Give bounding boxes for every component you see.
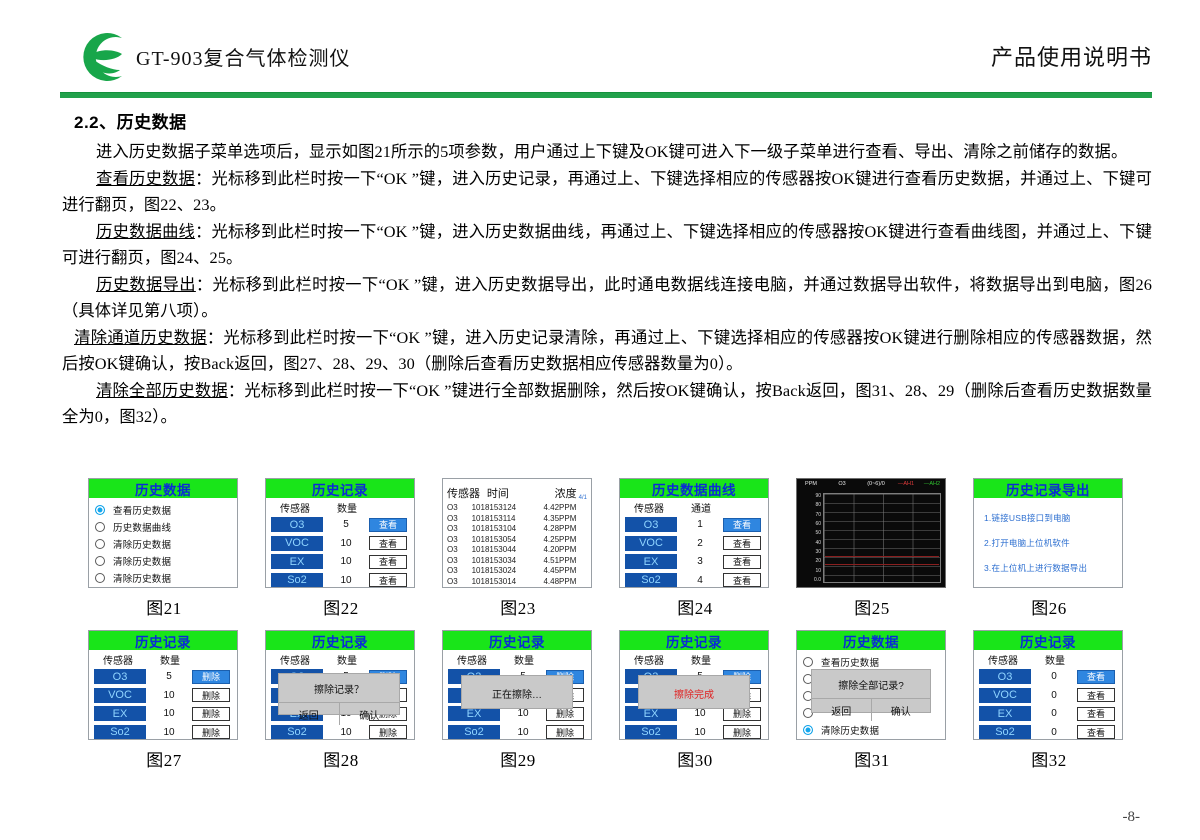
table-row[interactable]: So2 4 查看 xyxy=(620,572,768,589)
sensor-chip: So2 xyxy=(625,725,677,740)
figure-30: 历史记录 传感器 数量 O3 5 删除 VOC 10 删除 EX 10 删除 xyxy=(619,630,771,771)
view-button[interactable]: 查看 xyxy=(1077,707,1115,721)
y-tick: 90 xyxy=(799,493,821,499)
column-header-quantity: 数量 xyxy=(324,652,370,667)
screen-title: 历史记录 xyxy=(89,631,237,650)
radio-button-icon[interactable] xyxy=(95,505,105,515)
paragraph-history-export: 历史数据导出：光标移到此栏时按一下“OK ”键，进入历史数据导出，此时通电数据线… xyxy=(62,272,1152,325)
data-row: O3 1018153034 4.51PPM xyxy=(443,556,591,567)
cell-sensor: O3 xyxy=(447,566,472,577)
device-screen-history-record-list[interactable]: 历史记录 传感器 数量 O3 5 查看 VOC 10 查看 EX 10 查看 xyxy=(265,478,415,588)
figure-25: PPM O3 (0~6)/0 —AH1 —AH2 90 80 70 60 50 … xyxy=(796,478,948,619)
sensor-chip: So2 xyxy=(448,725,500,740)
cell-time: 1018153034 xyxy=(472,556,544,567)
sensor-quantity: 10 xyxy=(146,727,192,738)
device-screen-trend-chart[interactable]: PPM O3 (0~6)/0 —AH1 —AH2 90 80 70 60 50 … xyxy=(796,478,946,588)
sensor-quantity: 0 xyxy=(1031,690,1077,701)
view-button[interactable]: 查看 xyxy=(369,536,407,550)
section-body: 2.2、历史数据 进入历史数据子菜单选项后，显示如图21所示的5项参数，用户通过… xyxy=(62,108,1152,431)
paragraph-history-curve-text: ：光标移到此栏时按一下“OK ”键，进入历史数据曲线，再通过上、下键选择相应的传… xyxy=(62,222,1152,268)
menu-option-label: 查看历史数据 xyxy=(113,503,171,517)
cell-concentration: 4.51PPM xyxy=(543,556,587,567)
paragraph-clear-channel-text: ：光标移到此栏时按一下“OK ”键，进入历史记录清除，再通过上、下键选择相应的传… xyxy=(62,328,1152,374)
menu-option-row[interactable]: 清除历史数据 xyxy=(803,722,945,738)
column-header-time: 时间 xyxy=(487,485,540,501)
green-leaf-c-logo-icon xyxy=(72,30,128,84)
dialog-message: 擦除全部记录? xyxy=(812,670,930,692)
screen-title: 历史数据 xyxy=(89,479,237,498)
sensor-chip: O3 xyxy=(94,669,146,684)
view-button[interactable]: 查看 xyxy=(723,518,761,532)
device-screen-erase-confirm[interactable]: 历史记录 传感器 数量 O3 5 删除 VOC 10 删除 EX 10 删除 xyxy=(265,630,415,740)
y-tick: 10 xyxy=(799,568,821,574)
sensor-quantity: 10 xyxy=(677,727,723,738)
cell-time: 1018153024 xyxy=(472,566,544,577)
device-screen-record-delete-list[interactable]: 历史记录 传感器 数量 O3 5 删除 VOC 10 删除 EX 10 删除 xyxy=(88,630,238,740)
figure-row-first: 历史数据 查看历史数据 历史数据曲线 清除历史数据 清除历史数据 xyxy=(88,478,1150,619)
export-step: 2.打开电脑上位机软件 xyxy=(984,537,1122,549)
menu-option-label: 清除历史数据 xyxy=(113,571,171,585)
sensor-quantity: 10 xyxy=(323,727,369,738)
view-button[interactable]: 查看 xyxy=(1077,670,1115,684)
delete-button[interactable]: 删除 xyxy=(192,725,230,739)
data-row: O3 1018153124 4.42PPM xyxy=(443,503,591,514)
view-button[interactable]: 查看 xyxy=(369,518,407,532)
table-row[interactable]: So2 10 删除 xyxy=(89,724,237,741)
menu-option-row[interactable]: 清除历史数据 xyxy=(95,536,237,552)
screen-title: 历史数据曲线 xyxy=(620,479,768,498)
table-row[interactable]: O3 5 删除 xyxy=(89,668,237,685)
back-button[interactable]: 返回 xyxy=(812,699,871,721)
cell-concentration: 4.45PPM xyxy=(543,566,587,577)
table-row[interactable]: O3 1 查看 xyxy=(620,516,768,533)
brand-title: GT-903复合气体检测仪 xyxy=(136,42,350,71)
dialog-buttons: 返回 确认 xyxy=(279,702,399,725)
table-header: 传感器 通道 xyxy=(620,498,768,516)
device-screen-erase-complete[interactable]: 历史记录 传感器 数量 O3 5 删除 VOC 10 删除 EX 10 删除 xyxy=(619,630,769,740)
sensor-quantity: 10 xyxy=(323,538,369,549)
page-indicator: 4/1 xyxy=(579,495,587,501)
figure-caption: 图24 xyxy=(619,594,771,619)
cell-sensor: O3 xyxy=(447,556,472,567)
delete-button[interactable]: 删除 xyxy=(192,670,230,684)
cell-time: 1018153054 xyxy=(472,535,544,546)
page-header: GT-903复合气体检测仪 产品使用说明书 xyxy=(60,24,1152,90)
radio-button-icon[interactable] xyxy=(95,573,105,583)
confirm-dialog[interactable]: 擦除全部记录? 返回 确认 xyxy=(811,669,931,713)
sensor-chip: VOC xyxy=(625,536,677,551)
column-header-quantity: 数量 xyxy=(678,652,724,667)
figure-caption: 图31 xyxy=(796,746,948,771)
column-header-quantity: 数量 xyxy=(501,652,547,667)
column-header-sensor: 传感器 xyxy=(447,485,487,501)
figure-29: 历史记录 传感器 数量 O3 5 删除 VOC 10 删除 EX 10 删除 xyxy=(442,630,594,771)
channel-number: 1 xyxy=(677,519,723,530)
y-tick: 60 xyxy=(799,521,821,527)
data-row: O3 1018153054 4.25PPM xyxy=(443,535,591,546)
view-button[interactable]: 查看 xyxy=(1077,688,1115,702)
sensor-quantity: 0 xyxy=(1031,671,1077,682)
cell-concentration: 4.42PPM xyxy=(543,503,587,514)
menu-option-row[interactable]: 清除历史数据 xyxy=(95,553,237,569)
column-header-sensor: 传感器 xyxy=(620,500,678,515)
figure-caption: 图32 xyxy=(973,746,1125,771)
figure-caption: 图23 xyxy=(442,594,594,619)
cell-time: 1018153014 xyxy=(472,577,544,588)
sensor-chip: EX xyxy=(94,706,146,721)
data-row: O3 1018153104 4.28PPM xyxy=(443,524,591,535)
device-screen-erasing-progress[interactable]: 历史记录 传感器 数量 O3 5 删除 VOC 10 删除 EX 10 删除 xyxy=(442,630,592,740)
column-header-quantity: 数量 xyxy=(1032,652,1078,667)
table-row[interactable]: VOC 10 查看 xyxy=(266,535,414,552)
menu-option-row[interactable]: 查看历史数据 xyxy=(803,654,945,670)
sensor-chip: EX xyxy=(625,554,677,569)
chart-header: PPM O3 (0~6)/0 —AH1 —AH2 xyxy=(797,481,945,487)
y-tick: 70 xyxy=(799,512,821,518)
data-row: O3 1018153114 4.35PPM xyxy=(443,514,591,525)
data-row: O3 1018153044 4.20PPM xyxy=(443,545,591,556)
figure-caption: 图28 xyxy=(265,746,417,771)
delete-button[interactable]: 删除 xyxy=(546,725,584,739)
column-header-sensor: 传感器 xyxy=(266,652,324,667)
sensor-quantity: 5 xyxy=(146,671,192,682)
sensor-quantity: 10 xyxy=(146,690,192,701)
paragraph-clear-channel: 清除通道历史数据：光标移到此栏时按一下“OK ”键，进入历史记录清除，再通过上、… xyxy=(62,325,1152,378)
channel-number: 4 xyxy=(677,575,723,586)
chart-gas-label: O3 xyxy=(825,481,859,487)
sensor-chip: O3 xyxy=(625,517,677,532)
cell-time: 1018153124 xyxy=(472,503,544,514)
table-header: 传感器 数量 xyxy=(974,650,1122,668)
sensor-chip: EX xyxy=(271,554,323,569)
cell-time: 1018153114 xyxy=(472,514,544,525)
table-row[interactable]: O3 5 查看 xyxy=(266,516,414,533)
term-history-curve: 历史数据曲线 xyxy=(96,222,195,241)
cell-sensor: O3 xyxy=(447,545,472,556)
table-header: 传感器 数量 xyxy=(266,498,414,516)
table-row[interactable]: EX 10 删除 xyxy=(89,705,237,722)
table-row[interactable]: EX 3 查看 xyxy=(620,553,768,570)
sensor-quantity: 5 xyxy=(323,519,369,530)
confirm-button[interactable]: 确认 xyxy=(871,699,931,721)
header-divider xyxy=(60,92,1152,98)
menu-option-row[interactable]: 查看历史数据 xyxy=(95,502,237,518)
device-screen-erase-all-confirm[interactable]: 历史数据 查看历史数据 xyxy=(796,630,946,740)
cell-sensor: O3 xyxy=(447,577,472,588)
figure-caption: 图30 xyxy=(619,746,771,771)
sensor-quantity: 10 xyxy=(500,727,546,738)
paragraph-view-history: 查看历史数据：光标移到此栏时按一下“OK ”键，进入历史记录，再通过上、下键选择… xyxy=(62,166,1152,219)
cell-time: 1018153044 xyxy=(472,545,544,556)
view-button[interactable]: 查看 xyxy=(369,555,407,569)
sensor-quantity: 0 xyxy=(1031,727,1077,738)
sensor-quantity: 0 xyxy=(1031,708,1077,719)
sensor-quantity: 10 xyxy=(323,575,369,586)
cell-sensor: O3 xyxy=(447,535,472,546)
menu-option-row[interactable]: 历史数据曲线 xyxy=(95,519,237,535)
figure-26: 历史记录导出 1.链接USB接口到电脑 2.打开电脑上位机软件 3.在上位机上进… xyxy=(973,478,1125,619)
cell-concentration: 4.35PPM xyxy=(543,514,587,525)
y-tick: 80 xyxy=(799,502,821,508)
table-header: 传感器 数量 xyxy=(266,650,414,668)
paragraph-view-history-text: ：光标移到此栏时按一下“OK ”键，进入历史记录，再通过上、下键选择相应的传感器… xyxy=(62,169,1152,215)
device-screen-history-data-menu[interactable]: 历史数据 查看历史数据 历史数据曲线 清除历史数据 清除历史数据 xyxy=(88,478,238,588)
confirm-dialog[interactable]: 擦除记录？ 返回 确认 xyxy=(278,673,400,715)
sensor-chip: So2 xyxy=(271,725,323,740)
progress-dialog: 正在擦除… xyxy=(461,675,573,709)
table-header: 传感器 数量 xyxy=(89,650,237,668)
menu-option-label: 查看历史数据 xyxy=(821,655,879,669)
cell-sensor: O3 xyxy=(447,503,472,514)
table-row[interactable]: VOC 0 查看 xyxy=(974,687,1122,704)
cell-concentration: 4.48PPM xyxy=(543,577,587,588)
screen-title: 历史记录导出 xyxy=(974,479,1122,498)
chart-y-axis: 90 80 70 60 50 40 30 20 10 0.0 xyxy=(799,493,821,583)
sensor-chip: So2 xyxy=(271,573,323,588)
figure-caption: 图25 xyxy=(796,594,948,619)
figure-28: 历史记录 传感器 数量 O3 5 删除 VOC 10 删除 EX 10 删除 xyxy=(265,630,417,771)
figure-caption: 图27 xyxy=(88,746,240,771)
menu-option-label: 清除历史数据 xyxy=(113,537,171,551)
table-row[interactable]: EX 10 查看 xyxy=(266,553,414,570)
cell-concentration: 4.20PPM xyxy=(543,545,587,556)
completion-dialog: 擦除完成 xyxy=(638,675,750,709)
y-tick: 50 xyxy=(799,530,821,536)
paragraph-clear-all: 清除全部历史数据：光标移到此栏时按一下“OK ”键进行全部数据删除，然后按OK键… xyxy=(62,378,1152,431)
sensor-chip: So2 xyxy=(94,725,146,740)
paragraph-history-curve: 历史数据曲线：光标移到此栏时按一下“OK ”键，进入历史数据曲线，再通过上、下键… xyxy=(62,219,1152,272)
figure-32: 历史记录 传感器 数量 O3 0 查看 VOC 0 查看 EX 0 查看 xyxy=(973,630,1125,771)
table-row[interactable]: EX 0 查看 xyxy=(974,705,1122,722)
view-button[interactable]: 查看 xyxy=(1077,725,1115,739)
column-header-quantity: 数量 xyxy=(324,500,370,515)
sensor-chip: VOC xyxy=(271,536,323,551)
document-title: 产品使用说明书 xyxy=(991,40,1152,72)
view-button[interactable]: 查看 xyxy=(723,555,761,569)
term-clear-channel: 清除通道历史数据 xyxy=(74,328,207,347)
alarm-threshold-line-ah2 xyxy=(825,564,939,565)
screen-title: 历史数据 xyxy=(797,631,945,650)
section-heading: 2.2、历史数据 xyxy=(74,108,1152,133)
figure-23: 传感器 时间 浓度 4/1 O3 1018153124 4.42PPM O3 1… xyxy=(442,478,594,619)
view-button[interactable]: 查看 xyxy=(369,573,407,587)
device-screen-history-record-empty[interactable]: 历史记录 传感器 数量 O3 0 查看 VOC 0 查看 EX 0 查看 xyxy=(973,630,1123,740)
sensor-quantity: 10 xyxy=(500,708,546,719)
menu-option-label: 清除历史数据 xyxy=(821,723,879,737)
confirm-button[interactable]: 确认 xyxy=(339,703,400,725)
sensor-chip: O3 xyxy=(271,517,323,532)
table-header: 传感器 数量 xyxy=(443,650,591,668)
legend-ah1: —AH1 xyxy=(893,481,919,487)
column-header-sensor: 传感器 xyxy=(266,500,324,515)
chart-unit-label: PPM xyxy=(797,481,825,487)
table-row[interactable]: VOC 2 查看 xyxy=(620,535,768,552)
menu-option-row[interactable]: 清除历史数据 xyxy=(95,570,237,586)
channel-number: 3 xyxy=(677,556,723,567)
export-steps: 1.链接USB接口到电脑 2.打开电脑上位机软件 3.在上位机上进行数据导出 xyxy=(974,498,1122,574)
delete-button[interactable]: 删除 xyxy=(723,725,761,739)
figure-caption: 图21 xyxy=(88,594,240,619)
column-header-sensor: 传感器 xyxy=(89,652,147,667)
sensor-chip: O3 xyxy=(979,669,1031,684)
figure-caption: 图26 xyxy=(973,594,1125,619)
radio-button-icon[interactable] xyxy=(95,556,105,566)
sensor-quantity: 10 xyxy=(677,708,723,719)
delete-button[interactable]: 删除 xyxy=(192,688,230,702)
dialog-message: 正在擦除… xyxy=(462,676,572,701)
column-header-sensor: 传感器 xyxy=(620,652,678,667)
table-row[interactable]: So2 10 删除 xyxy=(620,724,768,741)
view-button[interactable]: 查看 xyxy=(723,536,761,550)
screen-title: 历史记录 xyxy=(266,479,414,498)
dialog-buttons: 返回 确认 xyxy=(812,698,930,721)
channel-number: 2 xyxy=(677,538,723,549)
dialog-message: 擦除记录？ xyxy=(279,674,399,696)
table-row[interactable]: VOC 10 删除 xyxy=(89,687,237,704)
figure-caption: 图22 xyxy=(265,594,417,619)
cell-concentration: 4.28PPM xyxy=(543,524,587,535)
device-screen-record-detail[interactable]: 传感器 时间 浓度 4/1 O3 1018153124 4.42PPM O3 1… xyxy=(442,478,592,588)
alarm-threshold-line-ah1 xyxy=(825,556,939,557)
export-step: 1.链接USB接口到电脑 xyxy=(984,512,1122,524)
legend-ah2: —AH2 xyxy=(919,481,945,487)
figure-22: 历史记录 传感器 数量 O3 5 查看 VOC 10 查看 EX 10 查看 xyxy=(265,478,417,619)
screen-title: 历史记录 xyxy=(266,631,414,650)
screen-title: 历史记录 xyxy=(620,631,768,650)
delete-button[interactable]: 删除 xyxy=(369,725,407,739)
data-row: O3 1018153014 4.48PPM xyxy=(443,577,591,588)
term-history-export: 历史数据导出 xyxy=(96,275,196,294)
figure-caption: 图29 xyxy=(442,746,594,771)
brand-logo xyxy=(72,30,130,84)
table-row[interactable]: So2 0 查看 xyxy=(974,724,1122,741)
export-step: 3.在上位机上进行数据导出 xyxy=(984,562,1122,574)
figure-row-second: 历史记录 传感器 数量 O3 5 删除 VOC 10 删除 EX 10 删除 xyxy=(88,630,1150,771)
figure-31: 历史数据 查看历史数据 xyxy=(796,630,948,771)
cell-concentration: 4.25PPM xyxy=(543,535,587,546)
paragraph-intro: 进入历史数据子菜单选项后，显示如图21所示的5项参数，用户通过上下键及OK键可进… xyxy=(62,139,1152,166)
figure-21: 历史数据 查看历史数据 历史数据曲线 清除历史数据 清除历史数据 xyxy=(88,478,240,619)
column-header-sensor: 传感器 xyxy=(443,652,501,667)
column-header-quantity: 数量 xyxy=(147,652,193,667)
chart-plot-area xyxy=(823,493,941,583)
radio-button-icon[interactable] xyxy=(95,522,105,532)
view-button[interactable]: 查看 xyxy=(723,573,761,587)
radio-button-icon[interactable] xyxy=(803,725,813,735)
screen-title: 历史记录 xyxy=(443,631,591,650)
y-tick: 20 xyxy=(799,558,821,564)
device-screen-history-export[interactable]: 历史记录导出 1.链接USB接口到电脑 2.打开电脑上位机软件 3.在上位机上进… xyxy=(973,478,1123,588)
sensor-chip: So2 xyxy=(979,725,1031,740)
sensor-chip: VOC xyxy=(94,688,146,703)
chart-range-label: (0~6)/0 xyxy=(859,481,893,487)
column-header-sensor: 传感器 xyxy=(974,652,1032,667)
sensor-quantity: 10 xyxy=(323,556,369,567)
data-table-header: 传感器 时间 浓度 4/1 xyxy=(443,479,591,503)
y-tick: 30 xyxy=(799,549,821,555)
cell-time: 1018153104 xyxy=(472,524,544,535)
table-header: 传感器 数量 xyxy=(620,650,768,668)
column-header-concentration: 浓度 xyxy=(540,485,577,501)
sensor-chip: So2 xyxy=(625,573,677,588)
sensor-chip: VOC xyxy=(979,688,1031,703)
back-button[interactable]: 返回 xyxy=(279,703,339,725)
cell-sensor: O3 xyxy=(447,524,472,535)
paragraph-history-export-text: ：光标移到此栏时按一下“OK ”键，进入历史数据导出，此时通电数据线连接电脑，并… xyxy=(62,275,1152,321)
figure-24: 历史数据曲线 传感器 通道 O3 1 查看 VOC 2 查看 EX 3 查看 xyxy=(619,478,771,619)
table-row[interactable]: O3 0 查看 xyxy=(974,668,1122,685)
column-header-channel: 通道 xyxy=(678,500,724,515)
data-row: O3 1018153024 4.45PPM xyxy=(443,566,591,577)
history-menu-options: 查看历史数据 历史数据曲线 清除历史数据 清除历史数据 清除历史数据 xyxy=(89,498,237,586)
term-view-history: 查看历史数据 xyxy=(96,169,195,188)
sensor-chip: EX xyxy=(979,706,1031,721)
figure-27: 历史记录 传感器 数量 O3 5 删除 VOC 10 删除 EX 10 删除 xyxy=(88,630,240,771)
menu-option-label: 历史数据曲线 xyxy=(113,520,171,534)
y-tick: 0.0 xyxy=(799,577,821,583)
page-number: -8- xyxy=(1123,809,1141,826)
y-tick: 40 xyxy=(799,540,821,546)
menu-option-label: 清除历史数据 xyxy=(113,554,171,568)
sensor-quantity: 10 xyxy=(146,708,192,719)
table-row[interactable]: So2 10 查看 xyxy=(266,572,414,589)
radio-button-icon[interactable] xyxy=(803,657,813,667)
table-row[interactable]: So2 10 删除 xyxy=(266,724,414,741)
delete-button[interactable]: 删除 xyxy=(192,707,230,721)
table-row[interactable]: So2 10 删除 xyxy=(443,724,591,741)
screen-title: 历史记录 xyxy=(974,631,1122,650)
radio-button-icon[interactable] xyxy=(95,539,105,549)
device-screen-history-curve-list[interactable]: 历史数据曲线 传感器 通道 O3 1 查看 VOC 2 查看 EX 3 查看 xyxy=(619,478,769,588)
cell-sensor: O3 xyxy=(447,514,472,525)
dialog-message: 擦除完成 xyxy=(639,676,749,701)
term-clear-all: 清除全部历史数据 xyxy=(96,381,228,400)
